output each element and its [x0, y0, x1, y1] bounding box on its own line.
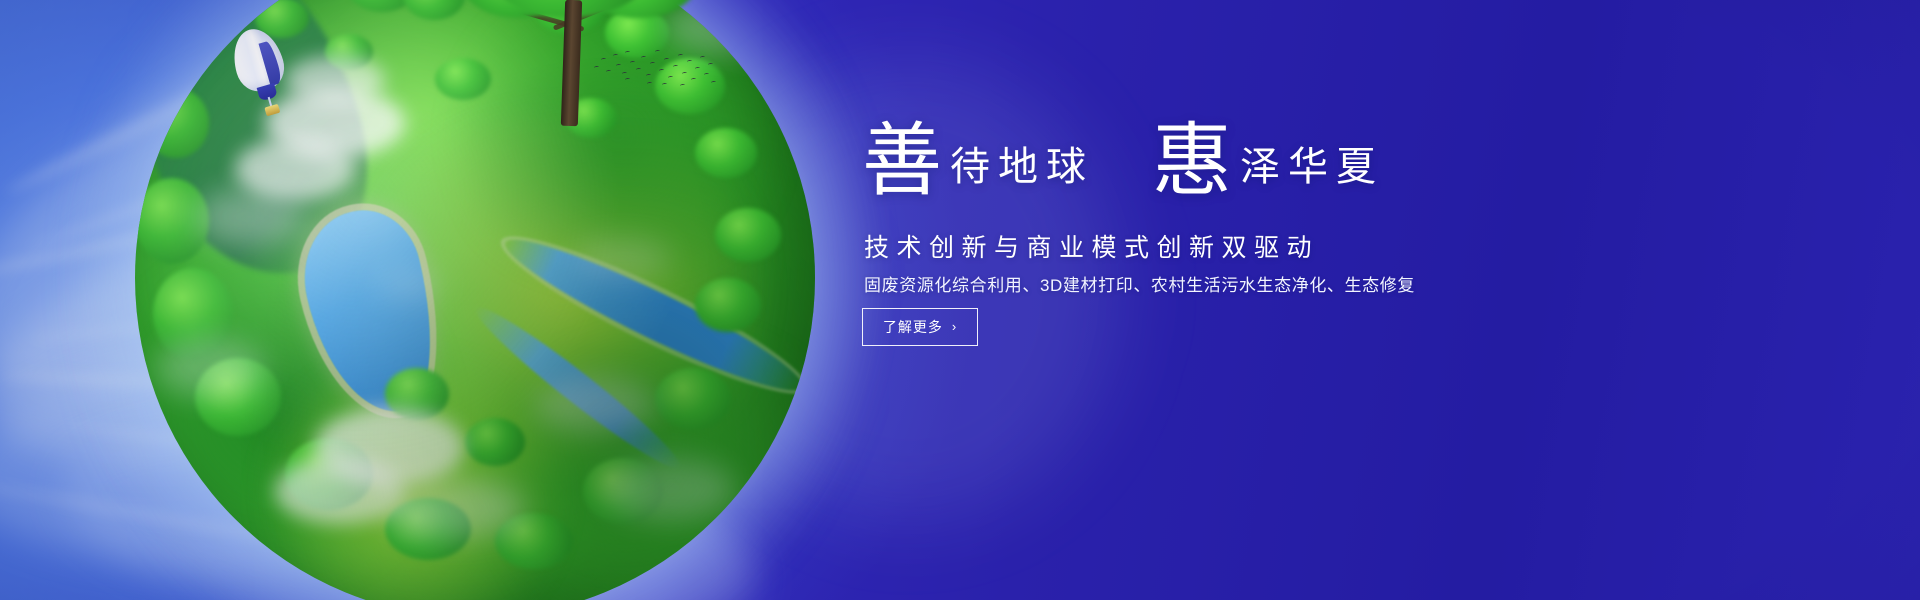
bird-icon: [594, 66, 599, 70]
bird-icon: [636, 68, 641, 72]
banner-description: 固废资源化综合利用、3D建材打印、农村生活污水生态净化、生态修复: [864, 271, 1415, 296]
learn-more-label: 了解更多: [883, 317, 943, 337]
bird-icon: [687, 60, 692, 64]
bird-icon: [625, 51, 630, 55]
bird-icon: [695, 67, 700, 71]
bird-icon: [678, 54, 683, 58]
bird-icon: [691, 78, 696, 82]
bird-icon: [647, 82, 652, 86]
bird-icon: [655, 50, 660, 54]
bird-icon: [700, 56, 705, 60]
bird-icon: [630, 61, 635, 65]
bird-icon: [641, 56, 646, 60]
headline-small-text-2: 泽华夏: [1232, 147, 1384, 197]
bird-icon: [704, 73, 709, 77]
banner-subtitle: 技术创新与商业模式创新双驱动: [864, 228, 1319, 264]
bird-icon: [682, 72, 687, 76]
bird-icon: [668, 76, 673, 80]
bird-icon: [616, 64, 621, 68]
bird-icon: [662, 83, 667, 87]
bird-icon: [613, 54, 618, 58]
bird-icon: [646, 74, 651, 78]
hero-banner: 善 待地球 惠 泽华夏 技术创新与商业模式创新双驱动 固废资源化综合利用、3D建…: [0, 0, 1920, 600]
chevron-right-icon: ›: [952, 320, 957, 333]
headline-big-char-1: 善: [862, 128, 942, 197]
bird-icon: [659, 69, 664, 73]
tree-trunk: [561, 0, 582, 126]
bird-icon: [622, 72, 627, 76]
learn-more-button[interactable]: 了解更多 ›: [862, 308, 978, 346]
bird-icon: [680, 84, 685, 88]
headline-big-char-2: 惠: [1152, 128, 1232, 197]
bird-icon: [601, 58, 606, 62]
balloon-basket: [264, 104, 280, 117]
bird-icon: [650, 62, 655, 66]
bird-icon: [664, 58, 669, 62]
headline-part-two: 惠 泽华夏: [1152, 128, 1384, 197]
bird-icon: [673, 65, 678, 69]
bird-icon: [625, 78, 630, 82]
headline-part-one: 善 待地球: [862, 128, 1094, 197]
page-title: 善 待地球 惠 泽华夏: [862, 128, 1384, 197]
birds-flock-icon: [592, 48, 712, 90]
bird-icon: [606, 70, 611, 74]
banner-content: 善 待地球 惠 泽华夏 技术创新与商业模式创新双驱动 固废资源化综合利用、3D建…: [862, 0, 1622, 600]
headline-small-text-1: 待地球: [942, 147, 1094, 197]
